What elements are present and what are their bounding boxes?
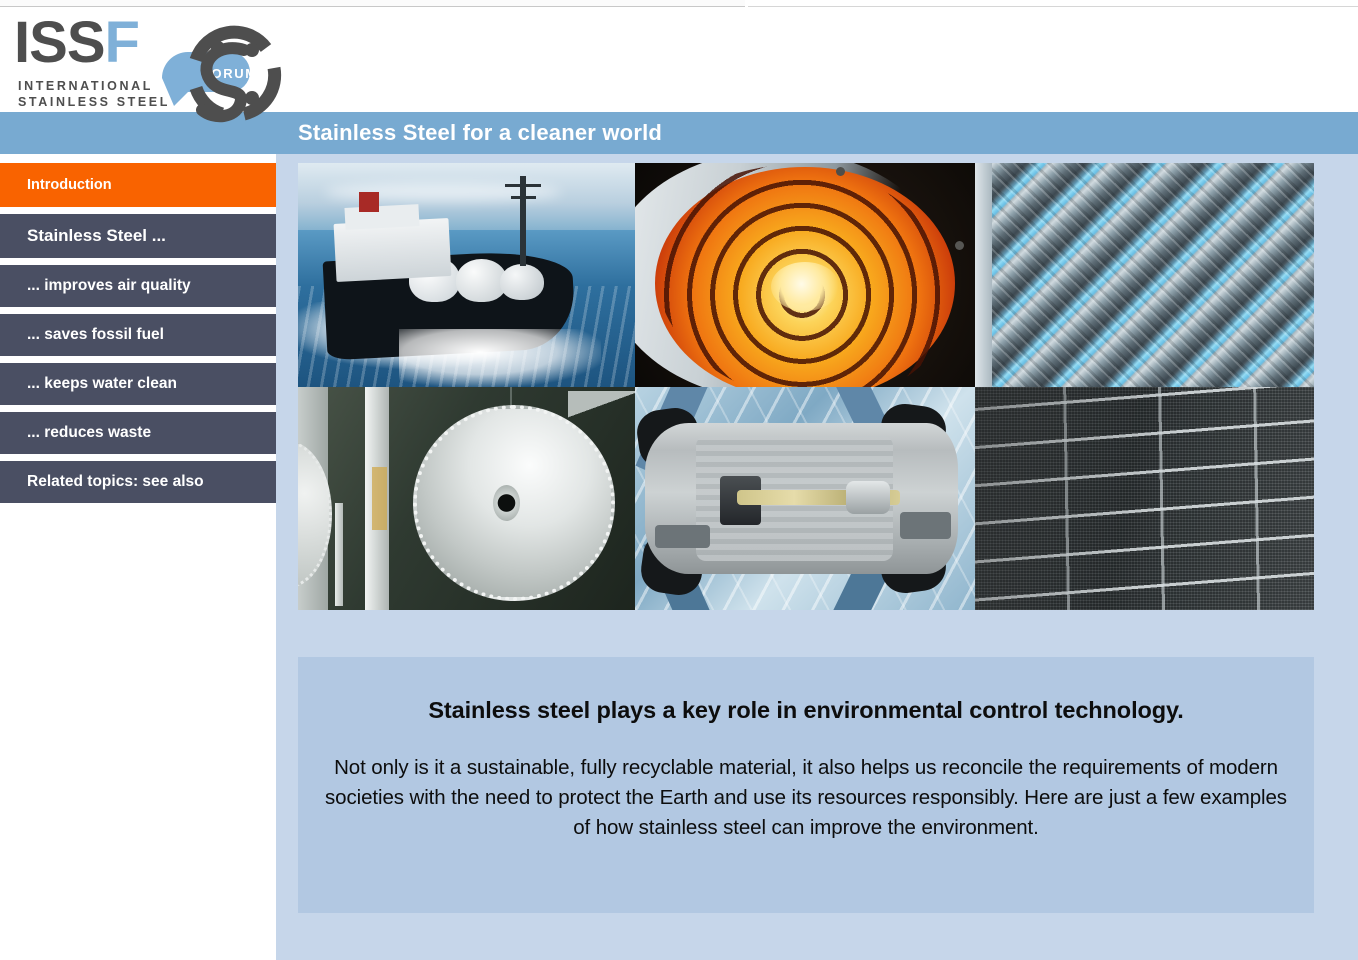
sidebar-item-label: ... keeps water clean xyxy=(27,375,177,393)
sidebar-item-label: Introduction xyxy=(27,177,112,193)
logo-letter-f: F xyxy=(105,10,139,75)
tank-sight-gauge xyxy=(335,503,343,606)
browser-chrome-line-right xyxy=(748,6,1358,7)
sidebar-item-stainless-steel[interactable]: Stainless Steel ... xyxy=(0,214,276,258)
image-collage xyxy=(298,163,1314,610)
logo-letter-s1: S xyxy=(29,10,67,75)
suspension-right xyxy=(900,512,951,539)
logo-wordmark: ISSF xyxy=(14,14,139,72)
intro-heading: Stainless steel plays a key role in envi… xyxy=(314,695,1298,725)
ship-bridge xyxy=(345,204,420,230)
heater-screw-right xyxy=(955,241,964,250)
collage-image-car-undercarriage-exhaust-on-lift xyxy=(635,387,975,610)
browser-chrome-line-left xyxy=(0,6,745,7)
mesh-shading xyxy=(975,387,1314,610)
sidebar-item-label: ... saves fossil fuel xyxy=(27,326,164,344)
intro-body: Not only is it a sustainable, fully recy… xyxy=(314,753,1298,843)
corrugated-edge xyxy=(975,163,992,387)
corrugated-speckle-texture xyxy=(975,163,1314,387)
sidebar-item-introduction[interactable]: Introduction xyxy=(0,163,276,207)
logo-letter-s2: S xyxy=(67,10,105,75)
browser-chrome-strip xyxy=(0,0,1358,7)
sidebar-item-saves-fossil-fuel[interactable]: ... saves fossil fuel xyxy=(0,314,276,356)
ship-wake-bow xyxy=(399,329,601,387)
sidebar-nav: Introduction Stainless Steel ... ... imp… xyxy=(0,163,276,510)
issf-logo[interactable]: ISSF INTERNATIONAL STAINLESS STEEL FORUM xyxy=(14,14,276,110)
heater-hot-core xyxy=(771,262,839,311)
issf-circular-mark-icon: FORUM xyxy=(144,16,284,124)
tank-warning-panel xyxy=(372,467,387,529)
exhaust-muffler xyxy=(846,481,890,514)
sidebar-item-reduces-waste[interactable]: ... reduces waste xyxy=(0,412,276,454)
sidebar-item-label: ... reduces waste xyxy=(27,424,151,442)
intro-text-box: Stainless steel plays a key role in envi… xyxy=(298,657,1314,913)
ship-mast xyxy=(520,176,525,266)
suspension-left xyxy=(655,525,709,547)
sidebar-item-improves-air-quality[interactable]: ... improves air quality xyxy=(0,265,276,307)
logo-tagline-line1: INTERNATIONAL xyxy=(18,78,153,95)
sidebar-item-related-topics[interactable]: Related topics: see also xyxy=(0,461,276,503)
sidebar-item-keeps-water-clean[interactable]: ... keeps water clean xyxy=(0,363,276,405)
ship-funnel xyxy=(359,192,379,212)
collage-image-stainless-steel-storage-tanks xyxy=(298,387,635,610)
collage-image-lng-tanker-ship-at-sea xyxy=(298,163,635,387)
sidebar-item-label: Stainless Steel ... xyxy=(27,226,166,246)
logo-letter-i: I xyxy=(14,10,29,75)
sidebar-item-label: Related topics: see also xyxy=(27,473,204,491)
page-root: Stainless Steel for a cleaner world ISSF… xyxy=(0,0,1358,960)
collage-image-dark-mesh-screen-wall xyxy=(975,387,1314,610)
sidebar-item-label: ... improves air quality xyxy=(27,277,191,295)
collage-image-corrugated-metal-with-water-droplets xyxy=(975,163,1314,387)
collage-image-glowing-heating-element-spiral xyxy=(635,163,975,387)
page-title: Stainless Steel for a cleaner world xyxy=(298,120,662,146)
ship-lng-tank-3 xyxy=(500,264,544,300)
